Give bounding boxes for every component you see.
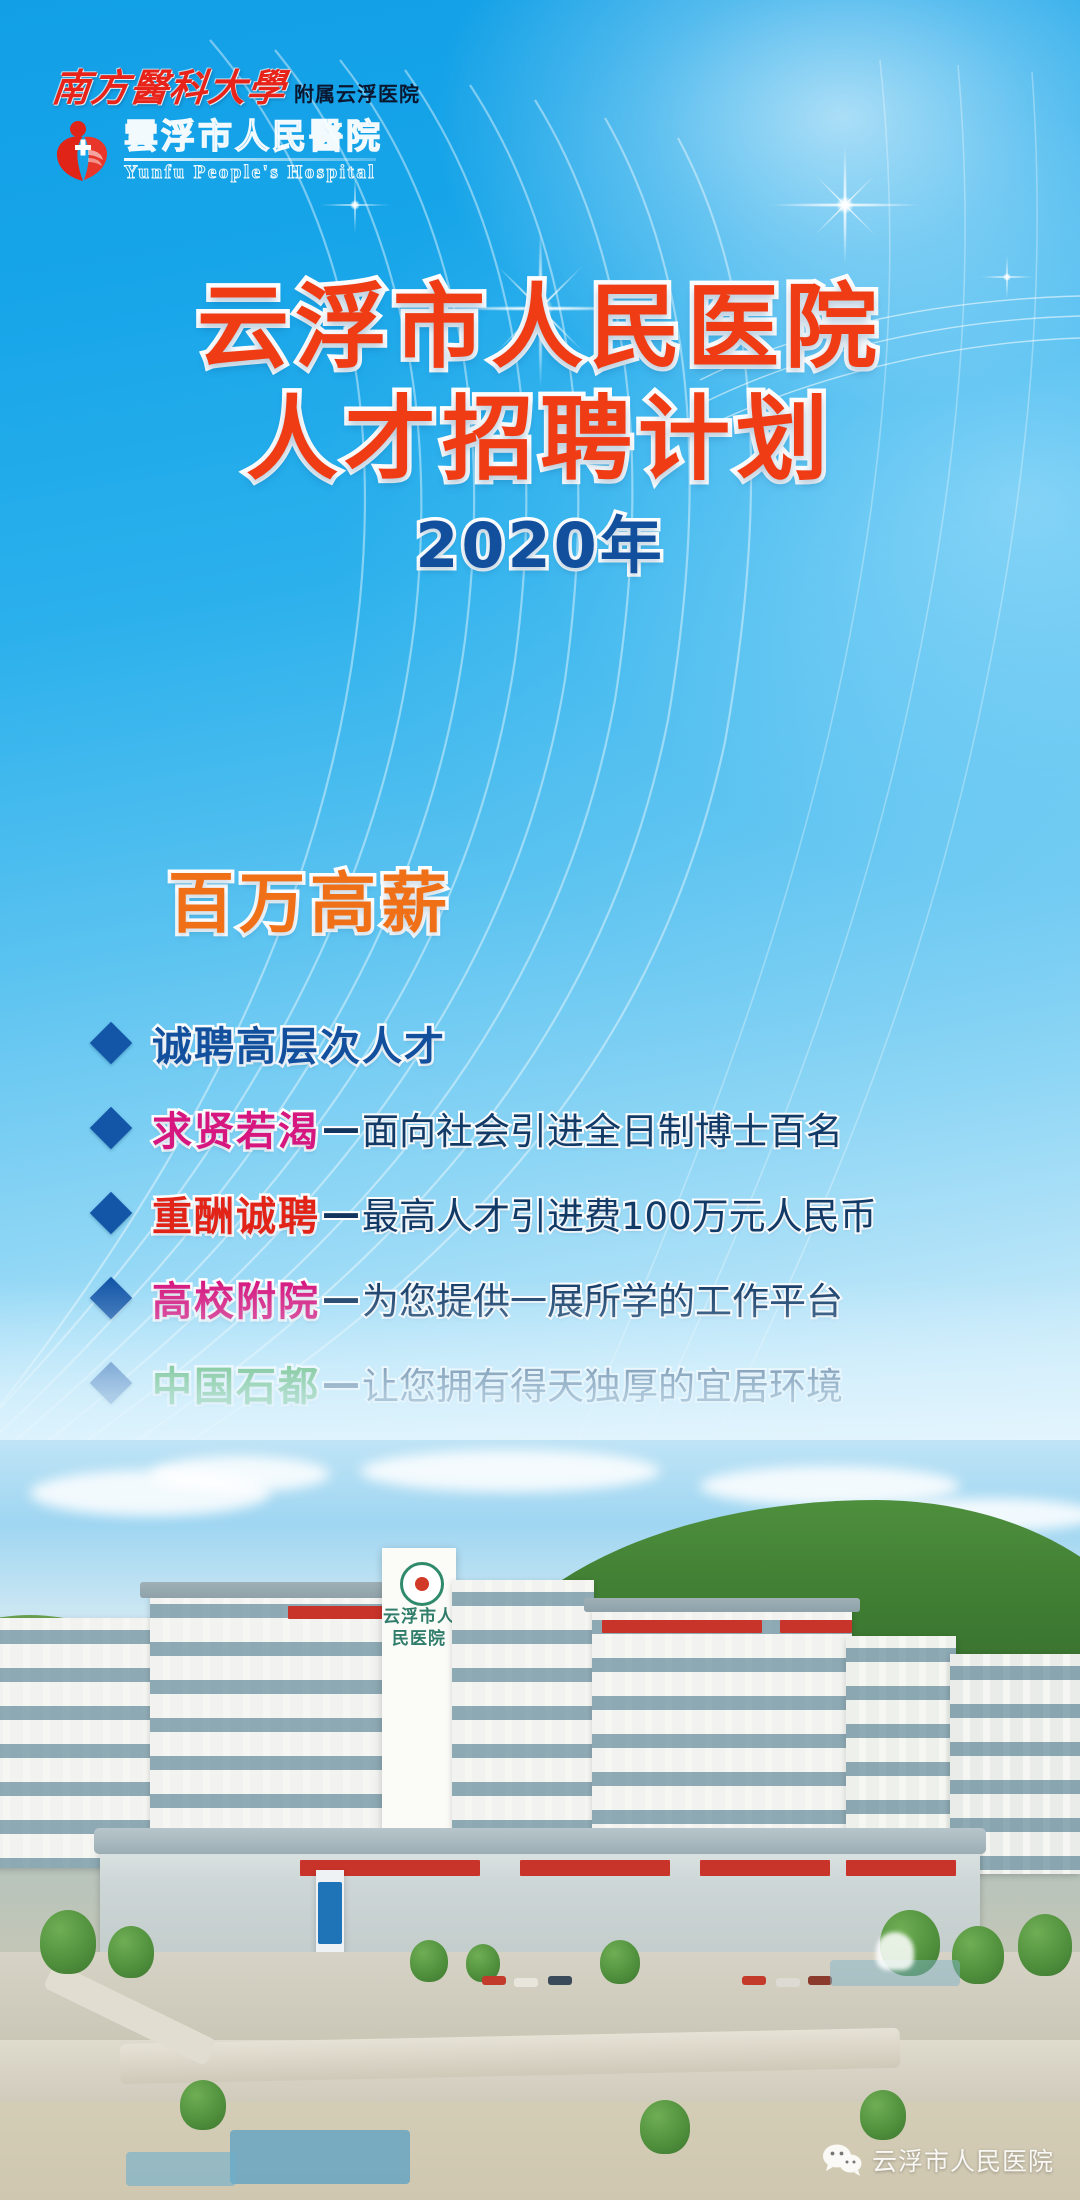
- list-item: 重酬诚聘 — 最高人才引进费100万元人民币: [96, 1170, 996, 1255]
- bullet-desc: 面向社会引进全日制博士百名: [362, 1101, 843, 1155]
- bullet-key: 重酬诚聘: [152, 1184, 320, 1242]
- photo-foreground-pool: [126, 2152, 236, 2186]
- hospital-logo-block: 南方醫科大學 附属云浮医院 雲浮市人民醫院 Yunfu People's Hos…: [52, 62, 472, 184]
- hospital-campus-photo: 云浮市人民医院: [0, 1440, 1080, 2200]
- photo-car: [482, 1976, 506, 1985]
- diamond-bullet-icon: [90, 1191, 132, 1233]
- photo-cloud: [700, 1466, 960, 1506]
- affiliation-label: 附属云浮医院: [294, 85, 420, 108]
- list-item: 诚聘高层次人才: [96, 1000, 996, 1085]
- hospital-name-stack: 雲浮市人民醫院 Yunfu People's Hospital: [124, 118, 383, 184]
- university-name-cn: 南方醫科大學: [50, 70, 288, 108]
- photo-tree: [1018, 1914, 1072, 1976]
- photo-fountain-jet: [876, 1932, 914, 1970]
- list-item: 求贤若渴 — 面向社会引进全日制博士百名: [96, 1085, 996, 1170]
- photo-car: [776, 1978, 800, 1987]
- title-line-2: 人才招聘计划: [0, 384, 1080, 496]
- wechat-watermark: 云浮市人民医院: [822, 2142, 1054, 2178]
- photo-podium-banner: [520, 1860, 670, 1876]
- title-year: 2020年: [0, 512, 1080, 580]
- photo-tower-sign: 云浮市人民医院: [382, 1606, 456, 1650]
- photo-tree: [180, 2080, 226, 2130]
- photo-tree: [410, 1940, 448, 1982]
- photo-car: [548, 1976, 572, 1985]
- photo-tree: [600, 1940, 640, 1984]
- photo-tower-emblem-icon: [400, 1562, 444, 1606]
- wechat-icon: [822, 2143, 862, 2177]
- logo-divider: [124, 158, 376, 161]
- title-line-1: 云浮市人民医院: [0, 272, 1080, 384]
- poster-root: 南方醫科大學 附属云浮医院 雲浮市人民醫院 Yunfu People's Hos…: [0, 0, 1080, 2200]
- hospital-row: 雲浮市人民醫院 Yunfu People's Hospital: [52, 118, 472, 184]
- photo-podium-banner: [700, 1860, 830, 1876]
- diamond-bullet-icon: [90, 1021, 132, 1063]
- photo-foreground-pool: [230, 2130, 410, 2184]
- bullet-key: 诚聘高层次人才: [152, 1014, 446, 1072]
- bullet-dash: —: [320, 1106, 362, 1150]
- bullet-dash: —: [320, 1191, 362, 1235]
- photo-podium-banner: [846, 1860, 956, 1876]
- hospital-name-en: Yunfu People's Hospital: [124, 162, 383, 184]
- photo-column-banner: [318, 1882, 342, 1944]
- photo-podium: [100, 1838, 980, 1956]
- photo-cloud: [360, 1450, 660, 1492]
- university-row: 南方醫科大學 附属云浮医院: [52, 62, 472, 108]
- photo-right-roof: [584, 1598, 860, 1612]
- photo-car: [808, 1976, 832, 1985]
- headline-salary: 百万高薪: [168, 868, 452, 941]
- photo-tree: [640, 2100, 690, 2154]
- poster-title-block: 云浮市人民医院 人才招聘计划 2020年: [0, 272, 1080, 581]
- photo-cloud: [150, 1456, 330, 1492]
- photo-car: [742, 1976, 766, 1985]
- photo-center-tower: 云浮市人民医院: [382, 1548, 456, 1874]
- diamond-bullet-icon: [90, 1106, 132, 1148]
- heart-cross-logo-icon: [52, 120, 114, 182]
- photo-banner: [602, 1620, 762, 1633]
- photo-tree: [108, 1926, 154, 1978]
- photo-tree: [860, 2090, 906, 2140]
- hospital-name-cn: 雲浮市人民醫院: [124, 120, 383, 156]
- photo-car: [514, 1978, 538, 1987]
- bullet-key: 求贤若渴: [152, 1099, 320, 1157]
- photo-banner: [780, 1620, 852, 1633]
- photo-tree: [40, 1910, 96, 1974]
- wechat-account-name: 云浮市人民医院: [872, 2142, 1054, 2178]
- bullet-desc: 最高人才引进费100万元人民币: [362, 1186, 877, 1240]
- photo-podium-roof: [94, 1828, 986, 1854]
